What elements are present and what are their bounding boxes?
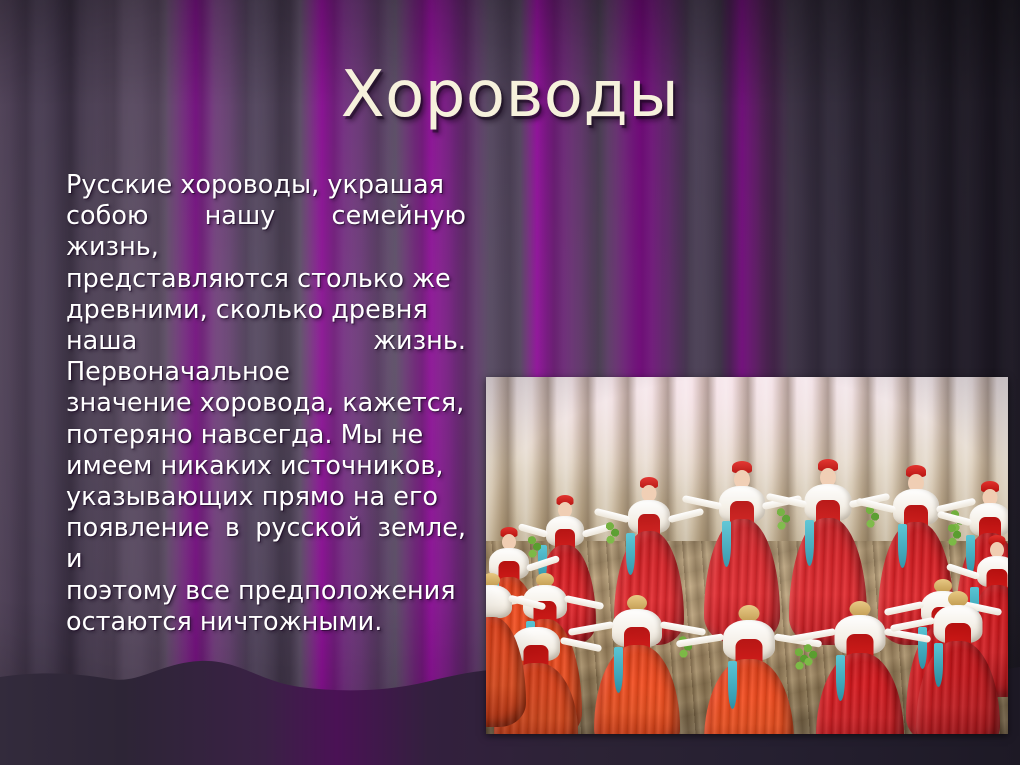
body-line: поэтому все предположения bbox=[66, 576, 466, 607]
body-line: значение хоровода, кажется, bbox=[66, 388, 466, 419]
dancer-figure bbox=[486, 573, 526, 723]
slide-title: Хороводы bbox=[0, 58, 1020, 132]
presentation-slide: Хороводы Русские хороводы, украшая собою… bbox=[0, 0, 1020, 765]
body-line: потеряно навсегда. Мы не bbox=[66, 420, 466, 451]
dancer-figure bbox=[704, 605, 794, 734]
body-line: остаются ничтожными. bbox=[66, 607, 466, 638]
body-line: указывающих прямо на его bbox=[66, 482, 466, 513]
slide-body-text: Русские хороводы, украшая собою нашу сем… bbox=[66, 170, 466, 638]
dancer-figure bbox=[816, 601, 904, 734]
body-line: собою нашу семейную жизнь, bbox=[66, 201, 466, 263]
body-line: древними, сколько древня bbox=[66, 295, 466, 326]
body-line: наша жизнь. Первоначальное bbox=[66, 326, 466, 388]
body-line: появление в русской земле, и bbox=[66, 513, 466, 575]
dancer-figure bbox=[916, 591, 1000, 734]
folk-dance-photo bbox=[486, 377, 1008, 734]
body-line: представляются столько же bbox=[66, 264, 466, 295]
body-line: имеем никаких источников, bbox=[66, 451, 466, 482]
photo-content bbox=[486, 377, 1008, 734]
dancer-figure bbox=[594, 595, 680, 734]
body-line: Русские хороводы, украшая bbox=[66, 170, 466, 201]
